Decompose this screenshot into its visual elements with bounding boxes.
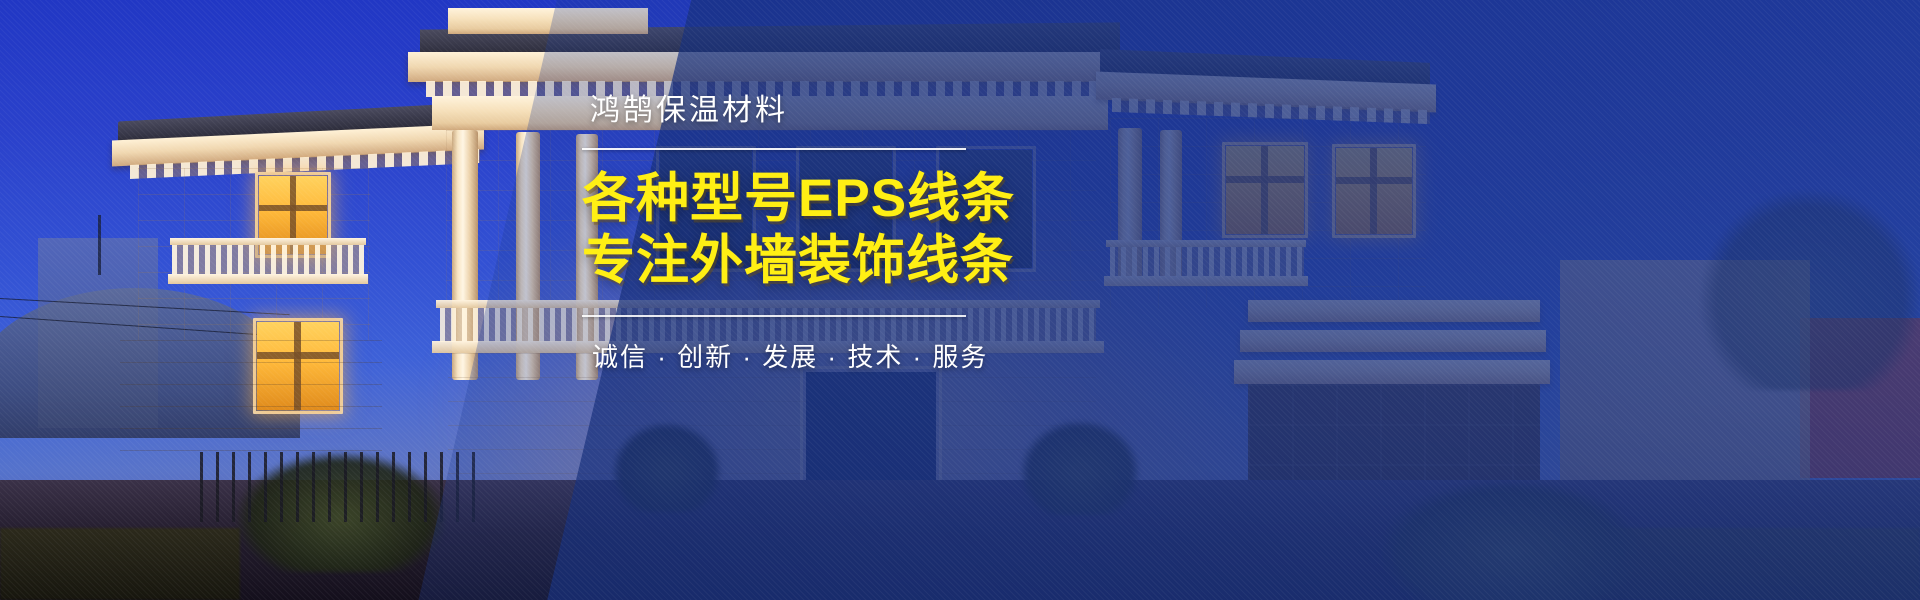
window-mullion xyxy=(259,205,327,211)
headline-line-1: 各种型号EPS线条 xyxy=(582,170,1002,228)
antenna-mast xyxy=(98,215,101,275)
brand-name: 鸿鹄保温材料 xyxy=(590,96,1002,126)
banner-text-block: 鸿鹄保温材料 各种型号EPS线条 专注外墙装饰线条 诚信 · 创新 · 发展 ·… xyxy=(582,96,1002,374)
left-wing-plinth xyxy=(120,340,382,470)
slogan: 诚信 · 创新 · 发展 · 技术 · 服务 xyxy=(592,337,1002,374)
divider-top xyxy=(582,148,966,150)
left-balcony-base xyxy=(168,274,368,284)
hero-banner: 鸿鹄保温材料 各种型号EPS线条 专注外墙装饰线条 诚信 · 创新 · 发展 ·… xyxy=(0,0,1920,600)
hedge-left xyxy=(0,528,240,600)
headline-line-2: 专注外墙装饰线条 xyxy=(582,232,1002,290)
left-balcony-balusters xyxy=(172,245,364,275)
left-balcony-rail xyxy=(170,238,366,245)
iron-fence xyxy=(200,452,480,522)
divider-bottom xyxy=(582,315,966,317)
